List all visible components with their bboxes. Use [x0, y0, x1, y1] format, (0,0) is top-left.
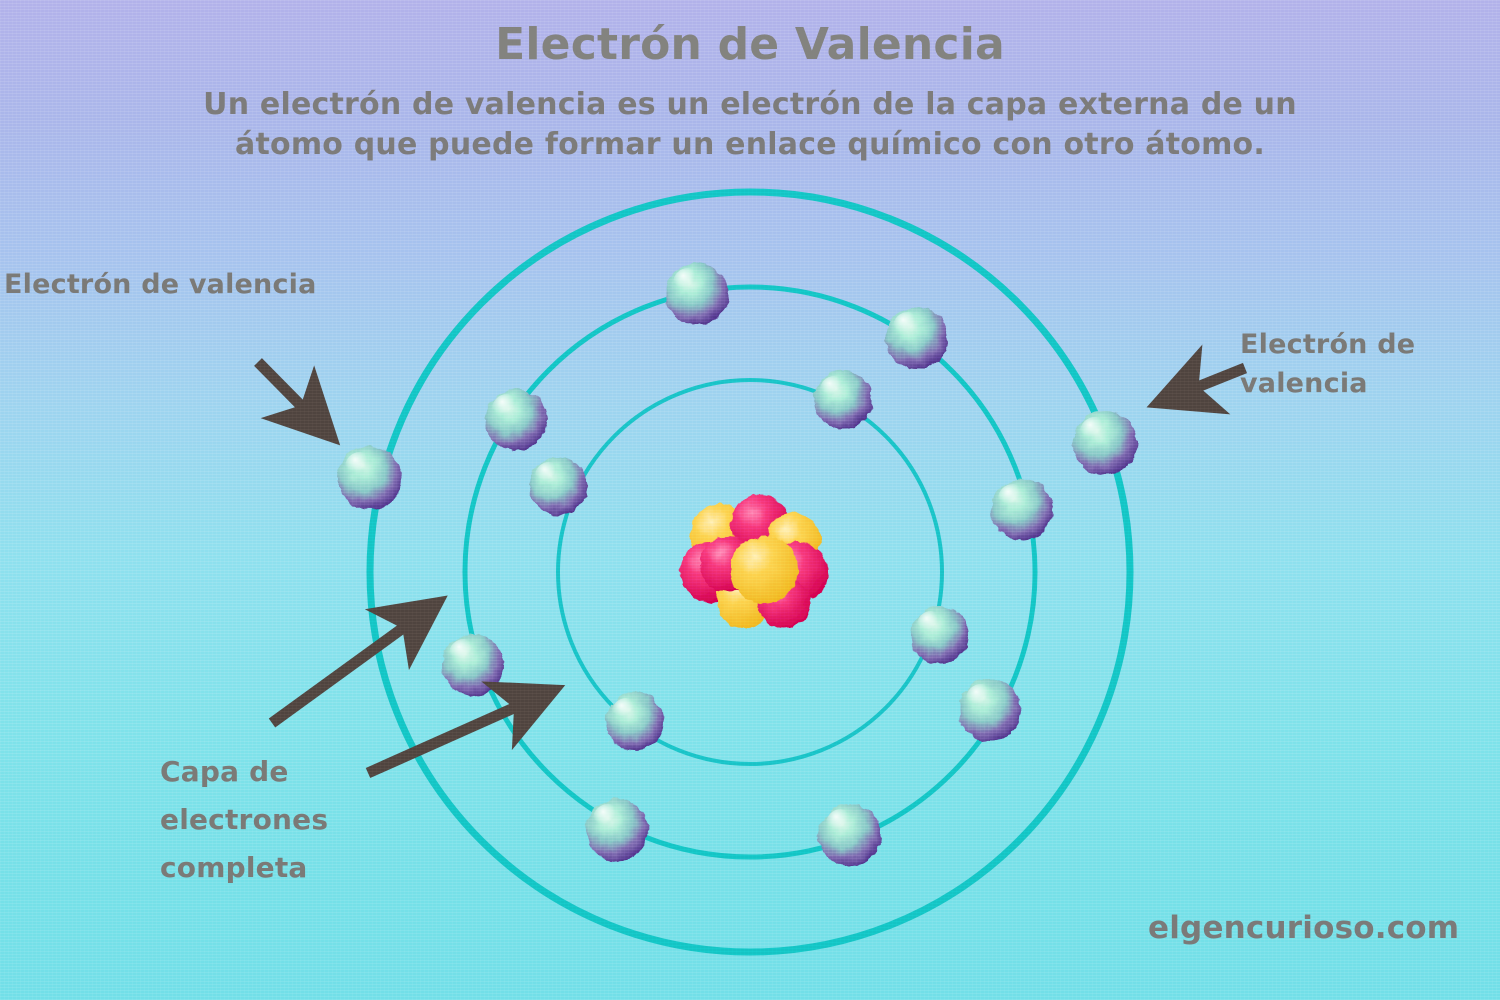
- electron: [819, 804, 881, 866]
- electron: [886, 307, 948, 369]
- page-title: Electrón de Valencia: [0, 20, 1500, 70]
- electron: [814, 371, 872, 429]
- arrow-to-right-valence-electron: [1160, 368, 1245, 402]
- electron: [606, 693, 664, 751]
- label-valence-electron-left: Electrón de valencia: [4, 268, 317, 302]
- label-right-line-2: valencia: [1240, 364, 1480, 403]
- valence-electron: [1073, 411, 1137, 475]
- electron: [529, 457, 587, 515]
- electron: [991, 479, 1053, 541]
- label-right-line-1: Electrón de: [1240, 325, 1480, 364]
- atomic-nucleus: [680, 495, 828, 628]
- label-complete-electron-shell: Capa de electrones completa: [160, 748, 430, 892]
- label-shell-line-1: Capa de: [160, 748, 430, 796]
- electron: [959, 679, 1021, 741]
- label-shell-line-2: electrones: [160, 796, 430, 844]
- electron: [911, 606, 969, 664]
- valence-electron: [338, 446, 402, 510]
- electron: [666, 263, 728, 325]
- diagram-canvas: Electrón de Valencia Un electrón de vale…: [0, 0, 1500, 1000]
- nucleus-neutron: [730, 536, 798, 604]
- subtitle-line-2: átomo que puede formar un enlace químico…: [150, 125, 1350, 165]
- electron: [442, 634, 504, 696]
- label-valence-electron-right: Electrón de valencia: [1240, 325, 1480, 403]
- site-watermark: elgencurioso.com: [1148, 910, 1459, 946]
- page-subtitle: Un electrón de valencia es un electrón d…: [150, 85, 1350, 165]
- electron: [586, 799, 648, 861]
- arrow-to-left-valence-electron: [258, 362, 330, 435]
- electron: [485, 389, 547, 451]
- arrow-to-middle-shell-upper: [272, 604, 436, 723]
- label-shell-line-3: completa: [160, 844, 430, 892]
- subtitle-line-1: Un electrón de valencia es un electrón d…: [150, 85, 1350, 125]
